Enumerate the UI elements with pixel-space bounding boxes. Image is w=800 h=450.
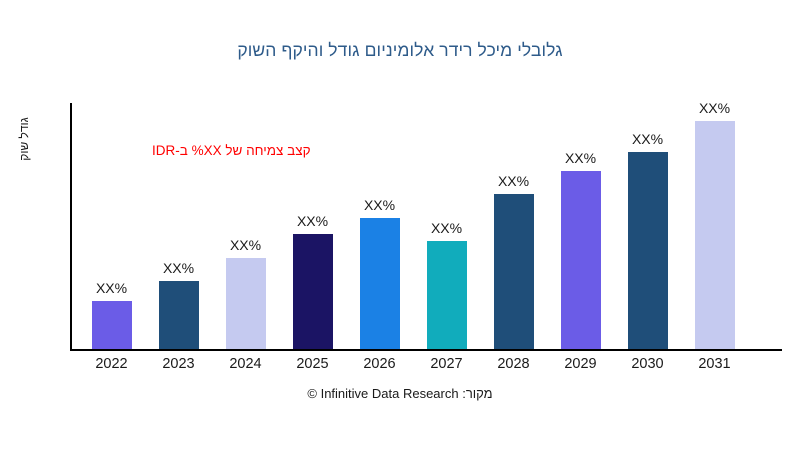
bar[interactable] <box>628 152 668 349</box>
y-axis-label: גודל שוק <box>17 84 31 194</box>
x-tick-2028: 2028 <box>480 356 547 372</box>
bar-value-label: XX% <box>96 280 127 296</box>
bar-value-label: XX% <box>431 220 462 236</box>
bar-value-label: XX% <box>163 260 194 276</box>
bar-group: XX% <box>279 103 346 349</box>
bar[interactable] <box>92 301 132 349</box>
x-tick-2026: 2026 <box>346 356 413 372</box>
bar-group: XX% <box>614 103 681 349</box>
bar-value-label: XX% <box>364 197 395 213</box>
bar-group: XX% <box>78 103 145 349</box>
bar-value-label: XX% <box>297 213 328 229</box>
x-tick-2024: 2024 <box>212 356 279 372</box>
bar[interactable] <box>695 121 735 349</box>
x-tick-2022: 2022 <box>78 356 145 372</box>
x-tick-2027: 2027 <box>413 356 480 372</box>
source-note: מקור: Infinitive Data Research © <box>0 386 800 401</box>
chart-container: גלובלי מיכל רידר אלומיניום גודל והיקף הש… <box>0 0 800 450</box>
x-tick-2031: 2031 <box>681 356 748 372</box>
bar[interactable] <box>226 258 266 349</box>
bars-layer: XX%XX%XX%XX%XX%XX%XX%XX%XX%XX% <box>70 103 782 351</box>
x-tick-2029: 2029 <box>547 356 614 372</box>
bar-value-label: XX% <box>632 131 663 147</box>
bar[interactable] <box>494 194 534 349</box>
x-tick-2025: 2025 <box>279 356 346 372</box>
x-tick-2023: 2023 <box>145 356 212 372</box>
chart-title: גלובלי מיכל רידר אלומיניום גודל והיקף הש… <box>0 40 800 61</box>
bar-value-label: XX% <box>699 100 730 116</box>
bar[interactable] <box>360 218 400 349</box>
x-tick-2030: 2030 <box>614 356 681 372</box>
bar[interactable] <box>293 234 333 349</box>
bar-group: XX% <box>212 103 279 349</box>
bar-group: XX% <box>547 103 614 349</box>
bar-group: XX% <box>413 103 480 349</box>
bar[interactable] <box>427 241 467 349</box>
bar-value-label: XX% <box>498 173 529 189</box>
bar[interactable] <box>159 281 199 349</box>
bar-group: XX% <box>346 103 413 349</box>
bar-group: XX% <box>145 103 212 349</box>
bar-value-label: XX% <box>565 150 596 166</box>
bar[interactable] <box>561 171 601 349</box>
bar-value-label: XX% <box>230 237 261 253</box>
bar-group: XX% <box>480 103 547 349</box>
bar-group: XX% <box>681 103 748 349</box>
